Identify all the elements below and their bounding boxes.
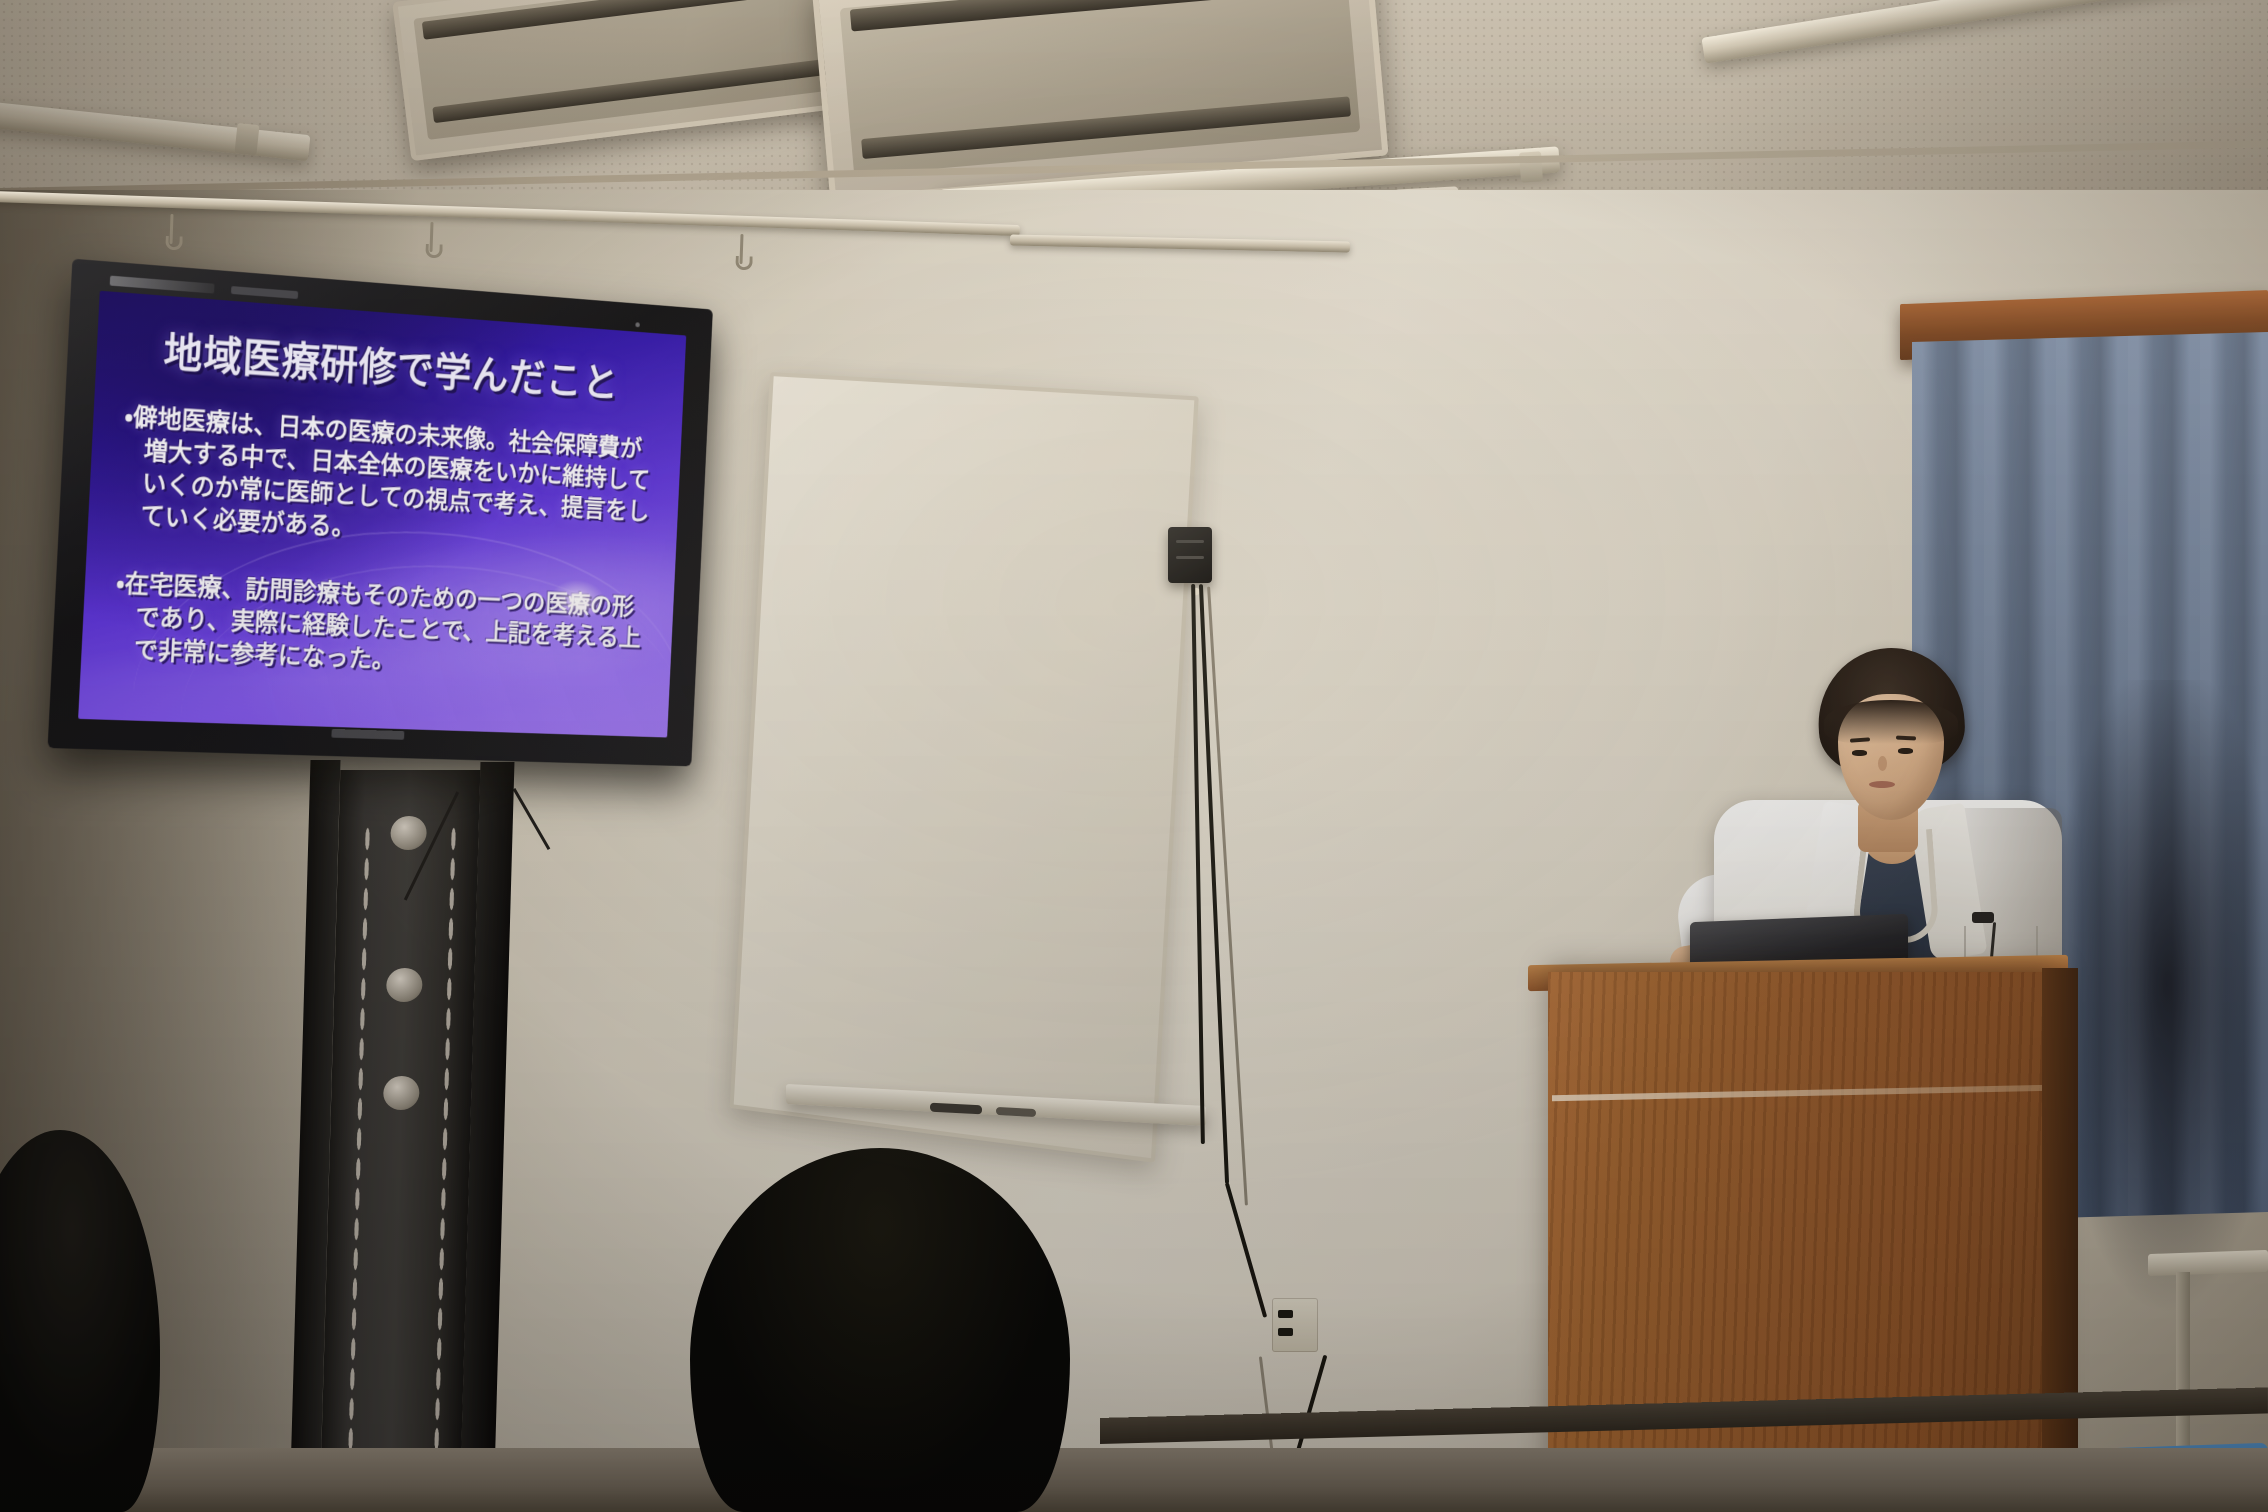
wooden-podium [1548,972,2058,1512]
presenter-hair-fringe [1824,700,1958,744]
slide-bullet-list: ・僻地医療は、日本の医療の未来像。社会保障費が増大する中で、日本全体の医療をいか… [96,400,662,687]
display-bottom-logo [331,729,404,740]
rail-hook-2 [429,222,433,252]
display-bezel: 地域医療研修で学んだこと ・僻地医療は、日本の医療の未来像。社会保障費が増大する… [48,259,713,767]
tv-stand-hole-column-left [347,824,371,1464]
podium-right-side [2042,968,2078,1512]
wall-speaker [1168,527,1212,583]
slide-title: 地域医療研修で学んだこと [111,328,666,408]
tv-stand-knob-middle[interactable] [386,968,423,1002]
presenter-mouth [1869,781,1895,788]
presenter-eye-right [1898,748,1913,754]
presenter-eye-left [1852,750,1867,756]
presentation-slide: 地域医療研修で学んだこと ・僻地医療は、日本の医療の未来像。社会保障費が増大する… [78,291,686,738]
wall-power-outlet[interactable] [1272,1298,1318,1352]
presentation-room-photo: 地域医療研修で学んだこと ・僻地医療は、日本の医療の未来像。社会保障費が増大する… [0,0,2268,1512]
display-model-label [231,286,298,299]
tv-stand-knob-top[interactable] [390,816,427,850]
flat-panel-display: 地域医療研修で学んだこと ・僻地医療は、日本の医療の未来像。社会保障費が増大する… [60,258,780,778]
wall-speaker-grille-bottom [1176,556,1204,559]
display-ir-sensor [635,322,640,327]
whiteboard [730,372,1199,1163]
tv-stand-hole-column-right [433,824,457,1464]
presenter-nose [1878,756,1887,771]
floor [0,1448,2268,1512]
display-brand-logo [110,276,215,294]
tv-stand-column [320,770,481,1512]
tv-stand-knob-bottom[interactable] [383,1076,420,1110]
podium-wood-grain [1548,972,2058,1512]
slide-bullet-1: ・僻地医療は、日本の医療の未来像。社会保障費が増大する中で、日本全体の医療をいか… [103,400,663,560]
pocket-pen-clip [1972,912,1994,923]
rail-hook-1 [169,214,173,244]
side-table-leg [2176,1272,2190,1450]
wall-speaker-grille-top [1176,540,1204,543]
side-table [2148,1250,2268,1276]
